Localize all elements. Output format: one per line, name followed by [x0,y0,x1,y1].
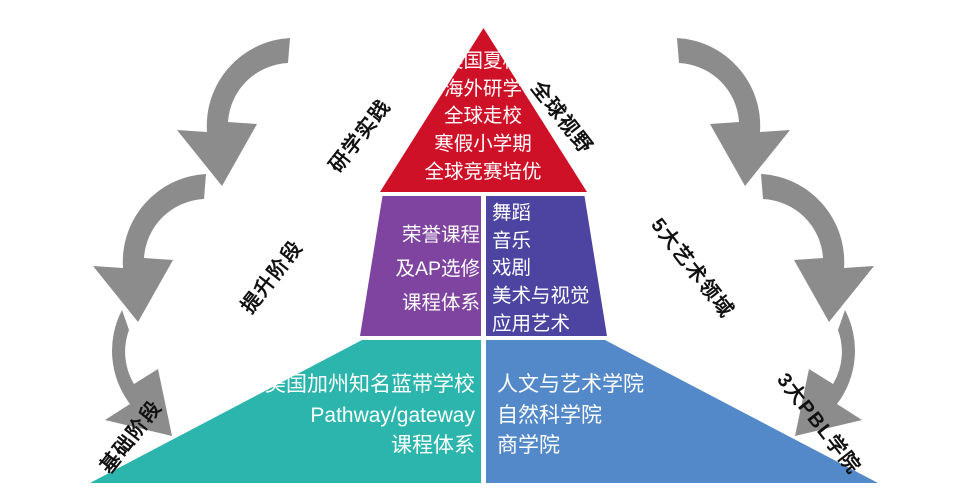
arrow-right-middle [761,174,874,322]
diagram-canvas [0,0,967,504]
pyramid-diagram: 美国夏校 海外研学 全球走校 寒假小学期 全球竞赛培优 荣誉课程 及AP选修 课… [0,0,967,504]
arrow-right-top [677,38,790,186]
arrow-right-bottom [795,310,862,436]
progression-arrows-left [93,38,290,436]
arrow-left-bottom [105,310,172,436]
progression-arrows-right [677,38,874,436]
arrow-left-middle [93,174,206,322]
pyramid-level-bottom [90,340,878,483]
pyramid-level-middle [360,196,607,336]
pyramid-level-middle-right [486,196,607,336]
pyramid-level-apex [380,28,587,192]
arrow-left-top [177,38,290,186]
pyramid-level-middle-left [360,196,481,336]
